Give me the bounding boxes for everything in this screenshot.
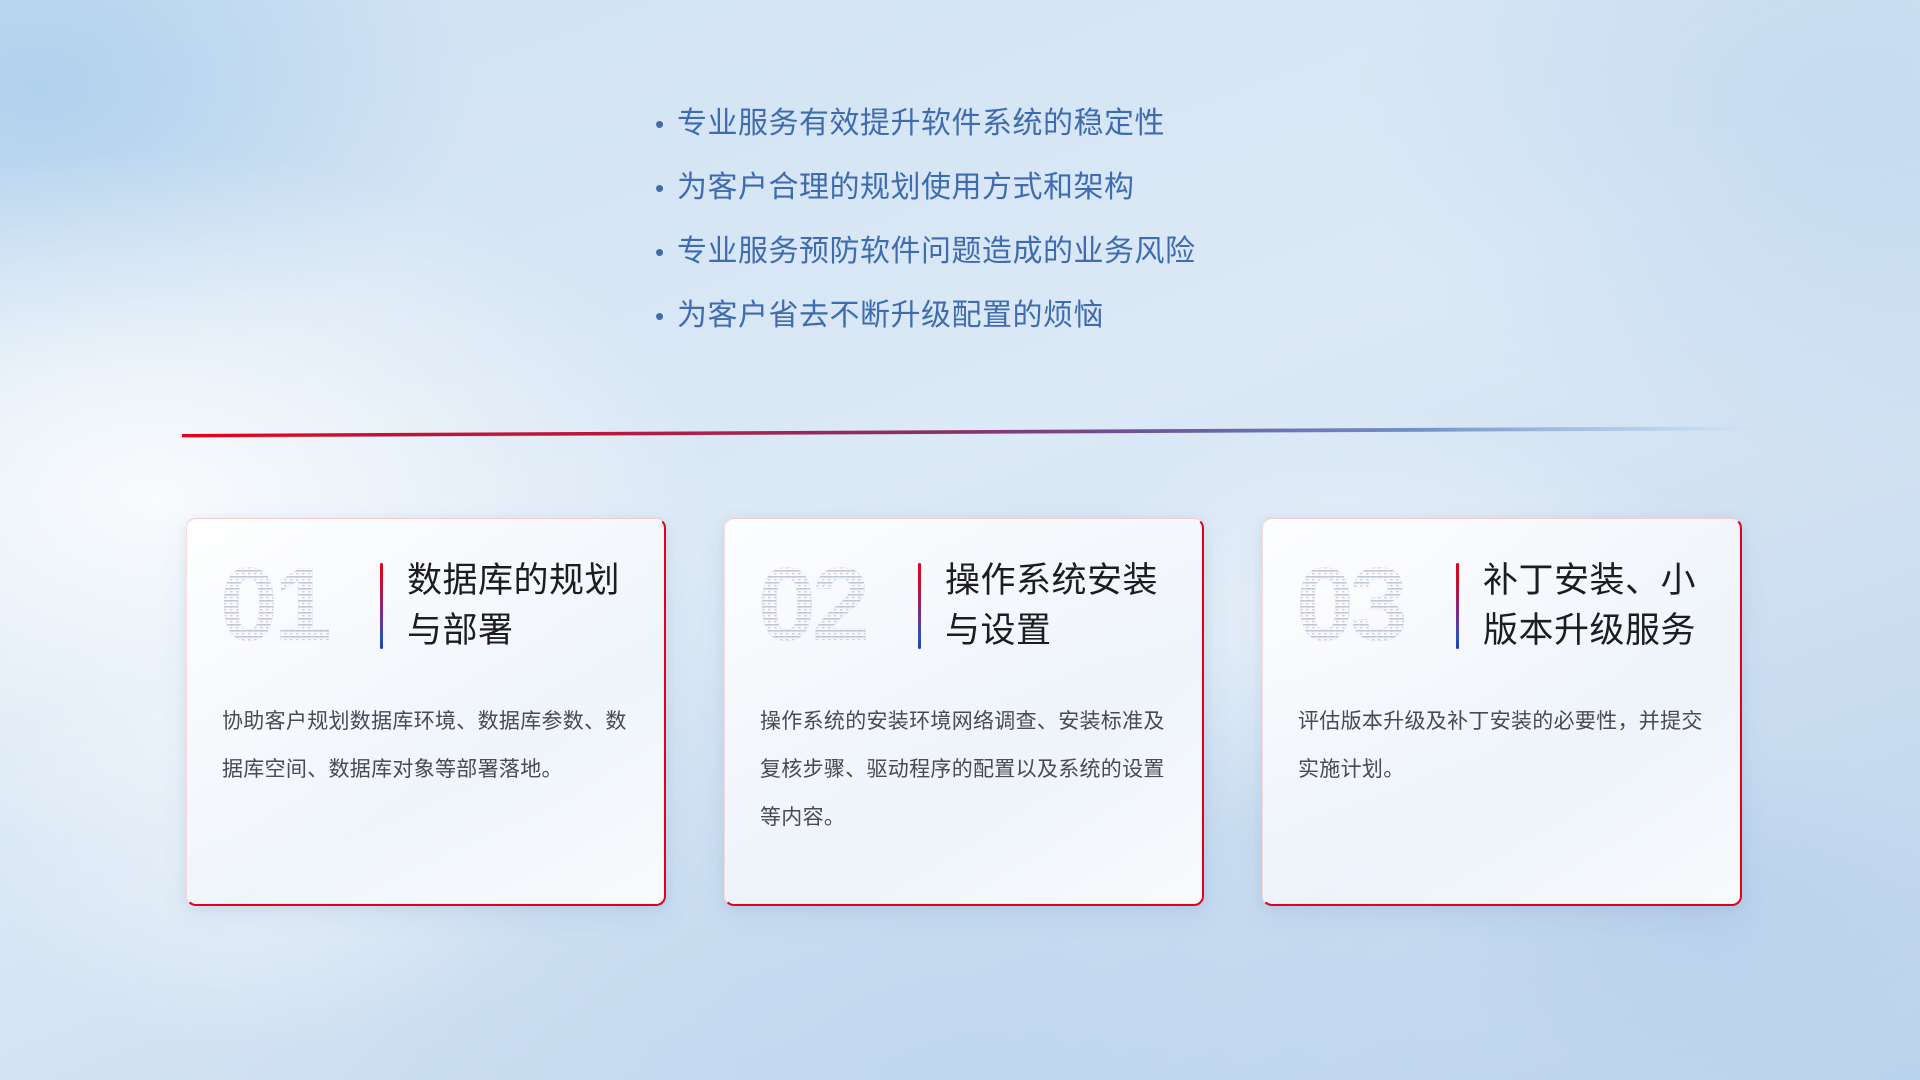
card-number-decoration: 02 02 bbox=[756, 546, 906, 666]
svg-text:03: 03 bbox=[1296, 547, 1405, 663]
card-title: 操作系统安装与设置 bbox=[945, 556, 1174, 656]
svg-text:01: 01 bbox=[220, 547, 329, 663]
feature-card-row: 01 01 数据库的规划与部署 协助客户规划数据库环境、数据库参数、数据库空间、… bbox=[186, 518, 1742, 906]
card-body-text: 评估版本升级及补丁安装的必要性，并提交实施计划。 bbox=[1262, 694, 1742, 794]
card-header: 01 01 数据库的规划与部署 bbox=[186, 518, 666, 694]
card-accent-rule bbox=[380, 563, 383, 649]
bullet-item-text: 专业服务预防软件问题造成的业务风险 bbox=[677, 232, 1196, 272]
card-body-text: 操作系统的安装环境网络调查、安装标准及复核步骤、驱动程序的配置以及系统的设置等内… bbox=[724, 694, 1204, 842]
bullet-item-text: 为客户合理的规划使用方式和架构 bbox=[677, 168, 1135, 208]
card-body-text: 协助客户规划数据库环境、数据库参数、数据库空间、数据库对象等部署落地。 bbox=[186, 694, 666, 794]
list-item: • 专业服务预防软件问题造成的业务风险 bbox=[655, 232, 1555, 296]
list-item: • 为客户省去不断升级配置的烦恼 bbox=[655, 296, 1555, 360]
card-accent-rule bbox=[1456, 563, 1459, 649]
svg-text:02: 02 bbox=[758, 547, 866, 663]
feature-card[interactable]: 02 02 操作系统安装与设置 操作系统的安装环境网络调查、安装标准及复核步骤、… bbox=[724, 518, 1204, 906]
list-item: • 专业服务有效提升软件系统的稳定性 bbox=[655, 104, 1555, 168]
card-header: 03 03 补丁安装、小版本升级服务 bbox=[1262, 518, 1742, 694]
feature-card[interactable]: 01 01 数据库的规划与部署 协助客户规划数据库环境、数据库参数、数据库空间、… bbox=[186, 518, 666, 906]
bullet-dot-icon: • bbox=[655, 104, 677, 144]
card-number-decoration: 03 03 bbox=[1294, 546, 1444, 666]
card-header: 02 02 操作系统安装与设置 bbox=[724, 518, 1204, 694]
bullet-dot-icon: • bbox=[655, 232, 677, 272]
card-accent-rule bbox=[918, 563, 921, 649]
bullet-item-text: 为客户省去不断升级配置的烦恼 bbox=[677, 296, 1104, 336]
card-number-decoration: 01 01 bbox=[218, 546, 368, 666]
bullet-dot-icon: • bbox=[655, 296, 677, 336]
bullet-dot-icon: • bbox=[655, 168, 677, 208]
feature-card[interactable]: 03 03 补丁安装、小版本升级服务 评估版本升级及补丁安装的必要性，并提交实施… bbox=[1262, 518, 1742, 906]
bullet-list: • 专业服务有效提升软件系统的稳定性 • 为客户合理的规划使用方式和架构 • 专… bbox=[655, 104, 1555, 360]
list-item: • 为客户合理的规划使用方式和架构 bbox=[655, 168, 1555, 232]
card-title: 补丁安装、小版本升级服务 bbox=[1483, 556, 1712, 656]
card-title: 数据库的规划与部署 bbox=[407, 556, 636, 656]
bullet-item-text: 专业服务有效提升软件系统的稳定性 bbox=[677, 104, 1165, 144]
